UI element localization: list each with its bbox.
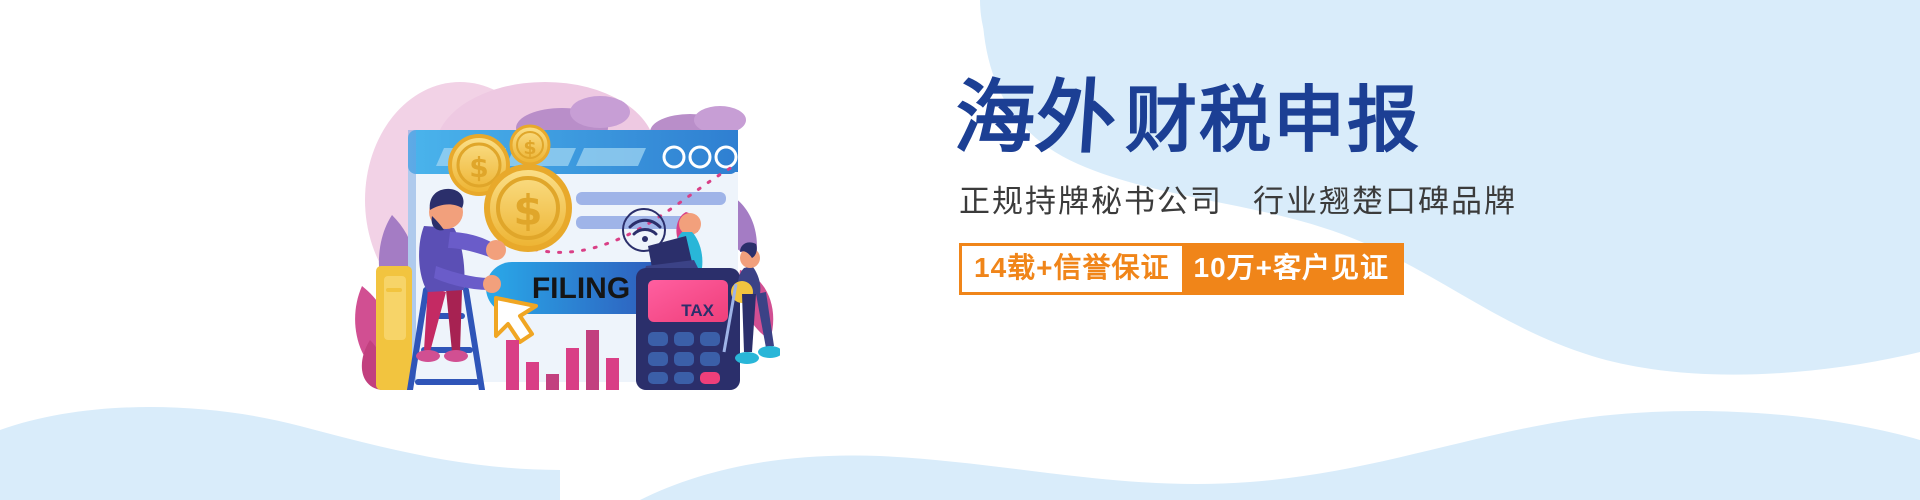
- calculator-label: TAX: [681, 301, 714, 320]
- promo-banner: $ $ $ FILING: [0, 0, 1920, 500]
- badge-group: 14载+信誉保证 10万+客户见证: [959, 243, 1404, 295]
- subtitle: 正规持牌秘书公司行业翘楚口碑品牌: [959, 176, 1655, 221]
- coin-symbol-tiny: $: [523, 137, 536, 159]
- headline-secondary: 财税申报: [1125, 84, 1421, 158]
- headline-primary: 海外: [952, 78, 1120, 158]
- subtitle-right: 行业翘楚口碑品牌: [1253, 184, 1517, 219]
- coin-symbol-small: $: [469, 151, 488, 184]
- badge-experience: 14载+信誉保证: [959, 243, 1182, 295]
- subtitle-left: 正规持牌秘书公司: [959, 184, 1223, 219]
- document-stack: [376, 266, 412, 390]
- filing-button-label: FILING: [532, 272, 630, 305]
- coin-symbol-large: $: [513, 186, 542, 235]
- banner-copy: 海外 财税申报 正规持牌秘书公司行业翘楚口碑品牌 14载+信誉保证 10万+客户…: [955, 78, 1655, 295]
- tax-filing-illustration: $ $ $ FILING: [300, 40, 780, 390]
- badge-clients: 10万+客户见证: [1182, 243, 1405, 295]
- headline: 海外 财税申报: [955, 78, 1655, 158]
- calculator: TAX: [636, 268, 740, 390]
